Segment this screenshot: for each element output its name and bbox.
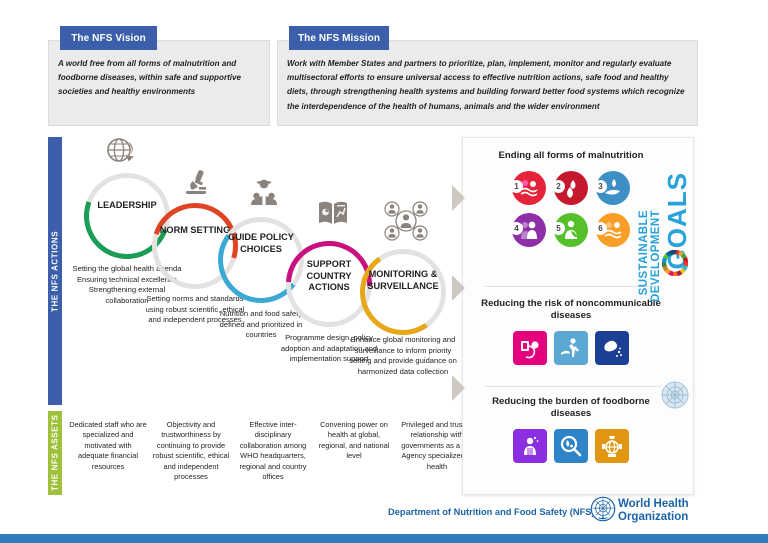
infographic-canvas: The NFS Vision The NFS Mission A world f… <box>0 0 768 543</box>
rail-nfs-assets: THE NFS ASSETS <box>48 411 62 495</box>
sdg-heading-malnutrition: Ending all forms of malnutrition <box>481 150 661 162</box>
sdg-color-wheel-icon <box>662 250 688 276</box>
sdg-group-ncd: Reducing the risk of noncommunicable dis… <box>481 298 661 365</box>
rail-nfs-actions: THE NFS ACTIONS <box>48 137 62 405</box>
zero-hunger-icon: 2 <box>554 171 588 205</box>
report-chart-icon <box>316 197 350 234</box>
sdg-heading-foodborne: Reducing the burden of foodborne disease… <box>481 396 661 420</box>
chevron-right-icon-1 <box>452 185 465 211</box>
asset-item-convening: Convening power on health at global, reg… <box>314 420 394 462</box>
footer-department: Department of Nutrition and Food Safety … <box>388 507 595 517</box>
physical-activity-icon <box>554 331 588 365</box>
who-logo-icon <box>590 496 616 522</box>
nfs-assets-group: Dedicated staff who are specialized and … <box>68 412 468 497</box>
who-wordmark-line2: Organization <box>618 511 689 524</box>
microscope-icon <box>180 165 212 202</box>
vision-statement: A world free from all forms of malnutrit… <box>58 57 263 100</box>
mission-tab-label: The NFS Mission <box>289 26 389 50</box>
policy-person-icon <box>248 177 280 214</box>
who-wordmark-line1: World Health <box>618 498 689 511</box>
salt-shaker-icon <box>595 331 629 365</box>
food-hygiene-icon <box>513 429 547 463</box>
un-emblem-icon <box>660 380 690 410</box>
action-title-leadership: LEADERSHIP <box>84 200 170 212</box>
panel-divider-2 <box>485 386 661 387</box>
globe-arrow-icon <box>104 135 138 174</box>
sdg-logo: SUSTAINABLE DEVELOPMENT GOALS <box>636 152 694 442</box>
blood-pressure-icon <box>513 331 547 365</box>
food-system-globe-icon <box>595 429 629 463</box>
food-inspection-icon <box>554 429 588 463</box>
action-desc-monitoring: Enhance global monitoring and surveillan… <box>346 335 460 377</box>
who-wordmark: World Health Organization <box>618 498 689 524</box>
quality-education-icon: 4 <box>512 213 546 247</box>
vision-tab-label: The NFS Vision <box>60 26 157 50</box>
ring-arc-monitoring <box>353 242 453 342</box>
sdg-group-malnutrition: Ending all forms of malnutrition 1 2 <box>481 150 661 247</box>
good-health-icon: 3 <box>596 171 630 205</box>
asset-item-staff: Dedicated staff who are specialized and … <box>68 420 148 472</box>
people-network-icon <box>378 199 434 248</box>
asset-item-collaboration: Effective inter-disciplinary collaborati… <box>234 420 312 482</box>
asset-item-objectivity: Objectivity and trustworthiness by conti… <box>150 420 232 482</box>
panel-divider-1 <box>485 286 661 287</box>
sdg-icon-row-foodborne <box>481 429 661 463</box>
sdg-group-foodborne: Reducing the burden of foodborne disease… <box>481 396 661 463</box>
action-title-monitoring: MONITORING & SURVEILLANCE <box>360 269 446 292</box>
sdg-icon-row-malnutrition: 1 2 3 <box>495 171 647 247</box>
mission-statement: Work with Member States and partners to … <box>287 57 689 114</box>
clean-water-icon: 6 <box>596 213 630 247</box>
sdg-icon-row-ncd <box>481 331 661 365</box>
sdg-heading-ncd: Reducing the risk of noncommunicable dis… <box>481 298 661 322</box>
nfs-actions-group: LEADERSHIP Setting the global health age… <box>68 137 458 405</box>
bottom-accent-bar <box>0 534 768 543</box>
chevron-right-icon-2 <box>452 275 465 301</box>
action-title-guide-policy: GUIDE POLICY CHOICES <box>218 232 304 255</box>
no-poverty-icon: 1 <box>512 171 546 205</box>
gender-equality-icon: 5 <box>554 213 588 247</box>
chevron-right-icon-3 <box>452 375 465 401</box>
